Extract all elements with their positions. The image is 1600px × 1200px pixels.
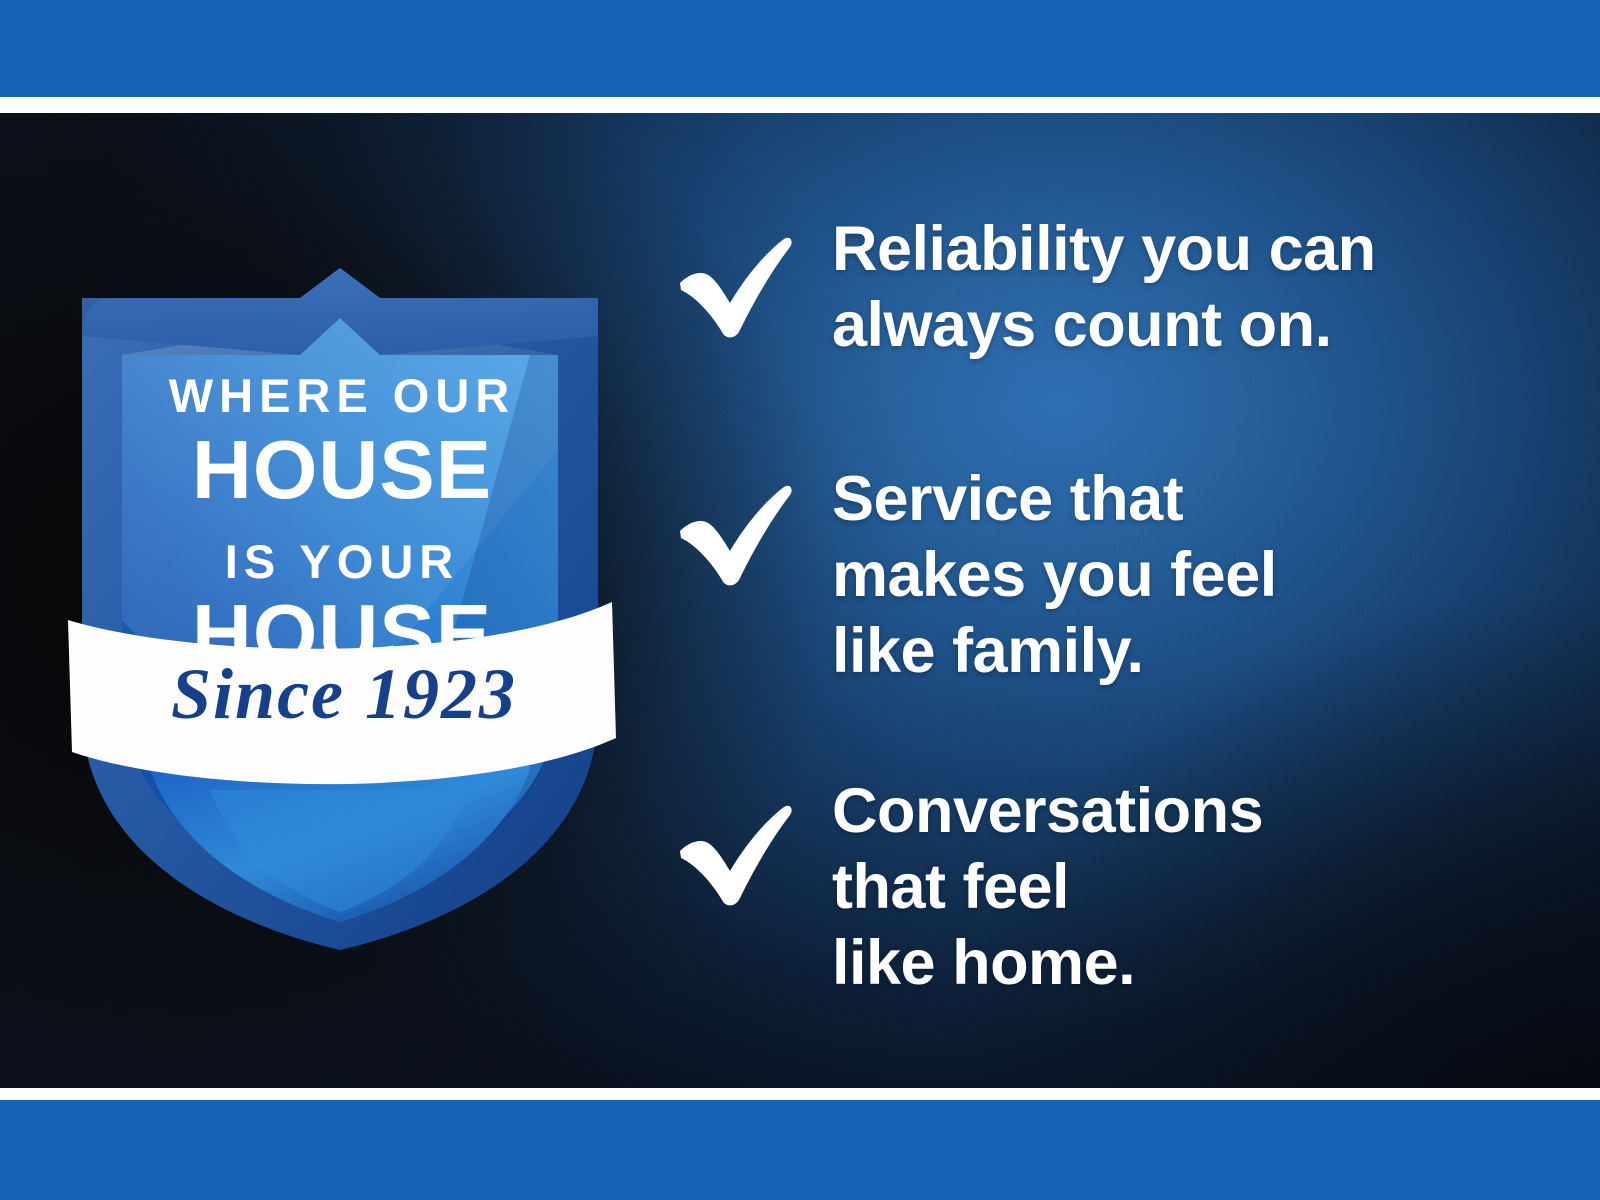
checkmark-icon xyxy=(668,475,798,595)
benefits-list: Reliability you can always count on. Ser… xyxy=(668,113,1548,1088)
ribbon-label: Since 1923 xyxy=(171,654,517,734)
checkmark-icon xyxy=(668,795,798,915)
benefit-line-2: makes you feel xyxy=(832,537,1548,613)
brand-logo-badge: WHERE OUR HOUSE IS YOUR HOUSE Since 1923 xyxy=(60,150,620,960)
benefit-line-2: that feel xyxy=(832,849,1548,925)
benefit-line-3: like family. xyxy=(832,613,1548,689)
benefit-line-1: Reliability you can xyxy=(832,211,1548,287)
logo-line-2: HOUSE xyxy=(192,423,492,516)
checkmark-icon xyxy=(668,227,798,347)
benefit-line-1: Conversations xyxy=(832,773,1548,849)
logo-line-1: WHERE OUR xyxy=(169,369,515,422)
benefit-line-2: always count on. xyxy=(832,287,1548,363)
benefit-line-3: like home. xyxy=(832,925,1548,1001)
benefit-line-1: Service that xyxy=(832,461,1548,537)
top-brand-bar xyxy=(0,0,1600,97)
benefit-text: Service that makes you feel like family. xyxy=(832,461,1548,689)
benefit-text: Conversations that feel like home. xyxy=(832,773,1548,1001)
logo-line-3: IS YOUR xyxy=(225,535,459,588)
benefit-text: Reliability you can always count on. xyxy=(832,211,1548,363)
bottom-brand-bar xyxy=(0,1100,1600,1200)
promo-graphic: WHERE OUR HOUSE IS YOUR HOUSE Since 1923… xyxy=(0,0,1600,1200)
